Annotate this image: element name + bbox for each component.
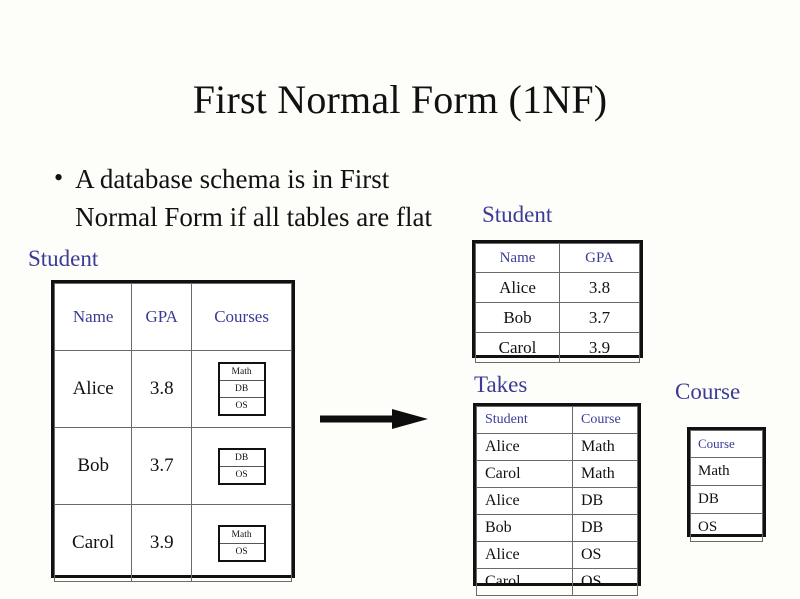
student-flat-caption: Student — [482, 202, 552, 228]
cell-gpa: 3.7 — [560, 303, 640, 333]
cell-course: OS — [691, 514, 763, 542]
cell-student: Bob — [477, 515, 573, 542]
table-row: Alice Math — [477, 434, 638, 461]
column-header-courses: Courses — [192, 284, 292, 351]
page-title: First Normal Form (1NF) — [0, 76, 800, 124]
nested-course-item: Math — [220, 527, 264, 544]
table-row: Alice OS — [477, 542, 638, 569]
student-nested-caption: Student — [28, 246, 98, 272]
cell-course: Math — [573, 434, 638, 461]
cell-gpa: 3.9 — [560, 333, 640, 363]
column-header-course: Course — [573, 407, 638, 434]
nested-courses-table: Math OS — [218, 525, 266, 562]
table-row: Bob 3.7 DB OS — [55, 428, 292, 505]
cell-name: Alice — [55, 351, 132, 428]
cell-courses: Math DB OS — [192, 351, 292, 428]
cell-courses: Math OS — [192, 505, 292, 582]
nested-course-item: OS — [220, 544, 264, 560]
table-row: Alice 3.8 — [476, 273, 640, 303]
table-row: Carol 3.9 Math OS — [55, 505, 292, 582]
table-row: Carol 3.9 — [476, 333, 640, 363]
cell-course: OS — [573, 569, 638, 596]
cell-name: Carol — [55, 505, 132, 582]
nested-courses-table: DB OS — [218, 448, 266, 485]
cell-course: DB — [573, 488, 638, 515]
cell-student: Carol — [477, 461, 573, 488]
course-table: Course Math DB OS — [687, 427, 766, 537]
column-header-student: Student — [477, 407, 573, 434]
student-flat-table: Name GPA Alice 3.8 Bob 3.7 Carol 3.9 — [472, 240, 643, 358]
cell-name: Carol — [476, 333, 560, 363]
student-nested-table: Name GPA Courses Alice 3.8 Math DB OS Bo… — [51, 280, 295, 578]
bullet-dot-icon: • — [54, 160, 63, 196]
table-row: Alice DB — [477, 488, 638, 515]
nested-course-item: DB — [220, 381, 264, 398]
cell-course: Math — [691, 458, 763, 486]
column-header-name: Name — [476, 244, 560, 273]
table-header-row: Name GPA Courses — [55, 284, 292, 351]
cell-course: OS — [573, 542, 638, 569]
nested-course-item: OS — [220, 467, 264, 483]
bullet-text: A database schema is in First Normal For… — [75, 160, 474, 236]
table-row: Math — [691, 458, 763, 486]
cell-student: Carol — [477, 569, 573, 596]
cell-name: Bob — [476, 303, 560, 333]
column-header-name: Name — [55, 284, 132, 351]
table-header-row: Course — [691, 431, 763, 458]
table-header-row: Student Course — [477, 407, 638, 434]
cell-gpa: 3.8 — [560, 273, 640, 303]
cell-gpa: 3.7 — [132, 428, 192, 505]
cell-courses: DB OS — [192, 428, 292, 505]
table-row: DB — [691, 486, 763, 514]
table-row: Carol OS — [477, 569, 638, 596]
cell-student: Alice — [477, 488, 573, 515]
bullet-item: • A database schema is in First Normal F… — [54, 160, 474, 236]
cell-name: Alice — [476, 273, 560, 303]
column-header-gpa: GPA — [560, 244, 640, 273]
course-caption: Course — [675, 379, 740, 405]
cell-student: Alice — [477, 434, 573, 461]
cell-name: Bob — [55, 428, 132, 505]
nested-course-item: DB — [220, 450, 264, 467]
takes-caption: Takes — [474, 372, 527, 398]
column-header-gpa: GPA — [132, 284, 192, 351]
takes-table: Student Course Alice Math Carol Math Ali… — [473, 403, 641, 586]
table-row: Bob 3.7 — [476, 303, 640, 333]
cell-student: Alice — [477, 542, 573, 569]
cell-gpa: 3.9 — [132, 505, 192, 582]
nested-courses-table: Math DB OS — [218, 362, 266, 416]
table-row: Carol Math — [477, 461, 638, 488]
table-row: OS — [691, 514, 763, 542]
cell-course: Math — [573, 461, 638, 488]
cell-course: DB — [573, 515, 638, 542]
cell-gpa: 3.8 — [132, 351, 192, 428]
cell-course: DB — [691, 486, 763, 514]
nested-course-item: OS — [220, 398, 264, 414]
bullet-block: • A database schema is in First Normal F… — [54, 160, 474, 236]
table-row: Bob DB — [477, 515, 638, 542]
table-row: Alice 3.8 Math DB OS — [55, 351, 292, 428]
column-header-course: Course — [691, 431, 763, 458]
table-header-row: Name GPA — [476, 244, 640, 273]
right-arrow-icon — [320, 409, 428, 429]
nested-course-item: Math — [220, 364, 264, 381]
